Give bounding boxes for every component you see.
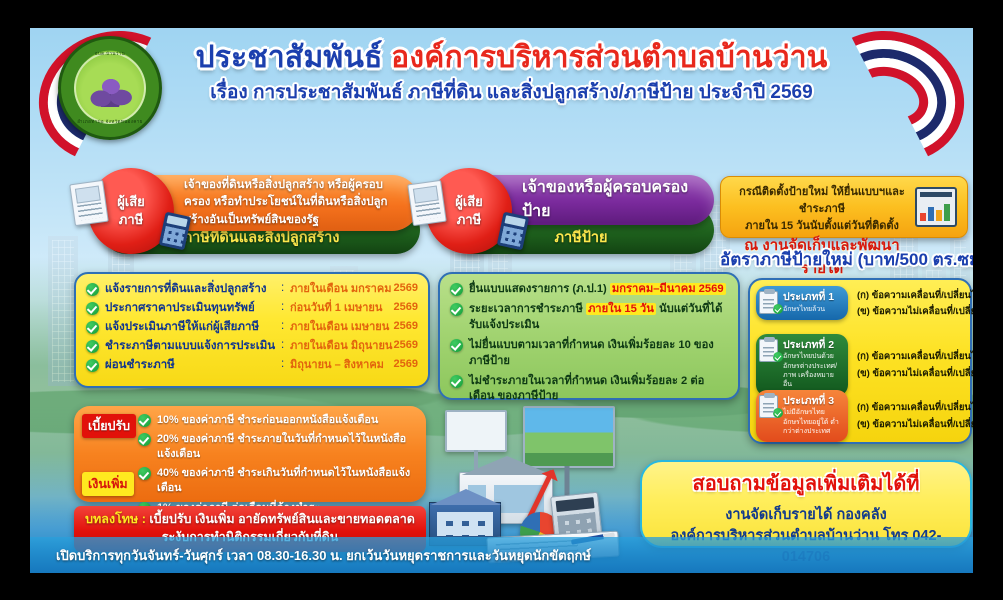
sign-rate-header: อัตราภาษีป้ายใหม่ (บาท/500 ตร.ซม.): [720, 246, 972, 273]
sign-badge-line1: ผู้เสีย: [455, 193, 483, 211]
check-icon: [450, 283, 463, 296]
bar-chart-monitor-icon: [915, 187, 957, 227]
schedule-separator: :: [281, 339, 290, 351]
title-blue-part: ประชาสัมพันธ์: [195, 41, 382, 74]
page-subtitle: เรื่อง การประชาสัมพันธ์ ภาษีที่ดิน และสิ…: [170, 77, 853, 107]
penalty-text: 20% ของค่าภาษี ชำระภายในวันที่กำหนดไว้ใน…: [157, 432, 416, 462]
sign-rate-text: (ก) ข้อความเคลื่อนที่/เปลี่ยนได้: [857, 400, 973, 415]
sign-type-desc: ไม่มีอักษรไทย อักษรไทยอยู่ใต้ ต่ำกว่าต่า…: [783, 408, 842, 436]
check-icon: [138, 467, 151, 480]
land-badge-line1: ผู้เสีย: [117, 193, 145, 211]
schedule-separator: :: [281, 282, 290, 294]
punishment-line-1: บทลงโทษ : เบี้ยปรับ เงินเพิ่ม อายัดทรัพย…: [84, 511, 416, 529]
schedule-value: ภายในเดือน มกราคม: [290, 282, 394, 297]
schedule-row: ชำระภาษีตามแบบแจ้งการประเมิน : ภายในเดือ…: [86, 339, 418, 355]
sign-type-2-pill: ประเภทที่ 2 อักษรไทยปนด้วย อักษรต่างประเ…: [756, 334, 848, 396]
clipboard-check-icon: [759, 395, 778, 418]
sign-rule-text: ยื่นแบบแสดงรายการ (ภ.ป.1) มกราคม–มีนาคม …: [469, 282, 726, 298]
sign-type-name: ประเภทที่ 2: [783, 339, 842, 352]
check-icon: [138, 414, 151, 427]
schedule-row: แจ้งประเมินภาษีให้แก่ผู้เสียภาษี : ภายใน…: [86, 320, 418, 336]
land-tax-schedule-card: แจ้งรายการที่ดินและสิ่งปลูกสร้าง : ภายใน…: [74, 272, 430, 388]
logo-ring-text-top: อบต.บ้านว่าน: [61, 50, 159, 57]
sign-rate-text: (ก) ข้อความเคลื่อนที่/เปลี่ยนได้: [857, 288, 973, 303]
document-icon: [407, 180, 447, 226]
sign-type-name: ประเภทที่ 3: [783, 395, 842, 408]
sign-type-3-pill: ประเภทที่ 3 ไม่มีอักษรไทย อักษรไทยอยู่ใต…: [756, 390, 848, 442]
check-icon: [138, 433, 151, 446]
notice-line-1: กรณีติดตั้งป้ายใหม่ ให้ยื่นแบบฯและชำระภา…: [735, 184, 909, 218]
sign-rate-text: (ข) ข้อความไม่เคลื่อนที่/เปลี่ยนไม่ได้: [857, 366, 973, 381]
check-icon: [86, 340, 99, 353]
schedule-year: 2569: [394, 301, 418, 313]
schedule-year: 2569: [394, 282, 418, 294]
logo-ring-text-bottom: อำเภอท่าบ่อ จังหวัดหนองคาย: [61, 118, 159, 125]
sign-tax-rules-card: ยื่นแบบแสดงรายการ (ภ.ป.1) มกราคม–มีนาคม …: [438, 272, 740, 400]
clipboard-check-icon: [759, 339, 778, 362]
punishment-text-1: เบี้ยปรับ เงินเพิ่ม อายัดทรัพย์สินและขาย…: [149, 512, 415, 526]
surcharge-badge: เงินเพิ่ม: [82, 472, 134, 496]
sign-rate-lines: (ก) ข้อความเคลื่อนที่/เปลี่ยนได้ 52 (ข) …: [857, 399, 973, 434]
schedule-label: ผ่อนชำระภาษี: [105, 358, 281, 374]
sign-tax-label-text: ภาษีป้าย: [554, 226, 607, 249]
sign-type-1-pill: ประเภทที่ 1 อักษรไทยล้วน: [756, 286, 848, 320]
sign-rate-row: ประเภทที่ 3 ไม่มีอักษรไทย อักษรไทยอยู่ใต…: [756, 390, 973, 442]
service-hours-bar: เปิดบริการทุกวันจันทร์-วันศุกร์ เวลา 08.…: [30, 537, 973, 573]
land-taxpayer-badge: ผู้เสีย ภาษี: [88, 168, 174, 254]
sign-rate-row: ประเภทที่ 1 อักษรไทยล้วน (ก) ข้อความเคลื…: [756, 286, 973, 321]
schedule-year: 2569: [394, 358, 418, 370]
check-icon: [773, 408, 783, 418]
sign-rate-row: ประเภทที่ 2 อักษรไทยปนด้วย อักษรต่างประเ…: [756, 334, 973, 396]
penalty-row: 20% ของค่าภาษี ชำระภายในวันที่กำหนดไว้ใน…: [138, 432, 416, 462]
schedule-separator: :: [281, 358, 290, 370]
land-taxpayer-description-text: เจ้าของที่ดินหรือสิ่งปลูกสร้าง หรือผู้คร…: [184, 177, 406, 229]
sign-rule-text: ไม่ยื่นแบบตามเวลาที่กำหนด เงินเพิ่มร้อยล…: [469, 338, 728, 370]
sign-rate-text: (ข) ข้อความไม่เคลื่อนที่/เปลี่ยนไม่ได้: [857, 304, 973, 319]
sign-rule-row: ยื่นแบบแสดงรายการ (ภ.ป.1) มกราคม–มีนาคม …: [450, 282, 728, 298]
schedule-separator: :: [281, 301, 290, 313]
page-title: ประชาสัมพันธ์ องค์การบริหารส่วนตำบลบ้านว…: [170, 42, 853, 74]
sign-rule-text: ไม่ชำระภายในเวลาที่กำหนด เงินเพิ่มร้อยละ…: [469, 374, 728, 406]
penalty-card: เบี้ยปรับ เงินเพิ่ม 10% ของค่าภาษี ชำระก…: [74, 406, 426, 502]
poster-root: อบต.บ้านว่าน อำเภอท่าบ่อ จังหวัดหนองคาย …: [30, 28, 973, 573]
notice-line-2: ภายใน 15 วันนับตั้งแต่วันที่ติดตั้ง: [735, 218, 909, 235]
sign-rate-line: (ข) ข้อความไม่เคลื่อนที่/เปลี่ยนไม่ได้ 5…: [857, 417, 973, 432]
punishment-colon: :: [138, 512, 149, 526]
sign-rate-line: (ก) ข้อความเคลื่อนที่/เปลี่ยนได้ 52: [857, 349, 973, 364]
sign-rule-row: ระยะเวลาการชำระภาษี ภายใน 15 วัน นับแต่ว…: [450, 302, 728, 334]
sign-rule-text: ระยะเวลาการชำระภาษี ภายใน 15 วัน นับแต่ว…: [469, 302, 728, 334]
contact-line-1: งานจัดเก็บรายได้ กองคลัง: [654, 505, 958, 526]
check-icon: [450, 375, 463, 388]
check-icon: [450, 339, 463, 352]
check-icon: [86, 321, 99, 334]
document-icon: [69, 180, 109, 226]
rule-highlight: ภายใน 15 วัน: [586, 303, 656, 315]
sign-taxpayer-badge: ผู้เสีย ภาษี: [426, 168, 512, 254]
contact-card: สอบถามข้อมูลเพิ่มเติมได้ที่ งานจัดเก็บรา…: [640, 460, 972, 548]
fine-badge: เบี้ยปรับ: [82, 414, 136, 438]
logo-crest-icon: [87, 73, 133, 107]
schedule-label: ชำระภาษีตามแบบแจ้งการประเมิน: [105, 339, 281, 355]
sign-rate-line: (ก) ข้อความเคลื่อนที่/เปลี่ยนได้ 52: [857, 400, 973, 415]
title-red-part: องค์การบริหารส่วนตำบลบ้านว่าน: [391, 41, 827, 74]
check-icon: [773, 352, 783, 362]
check-icon: [86, 359, 99, 372]
sign-rate-text: (ก) ข้อความเคลื่อนที่/เปลี่ยนได้: [857, 349, 973, 364]
sign-type-name: ประเภทที่ 1: [783, 291, 842, 304]
sign-rule-row: ไม่ยื่นแบบตามเวลาที่กำหนด เงินเพิ่มร้อยล…: [450, 338, 728, 370]
schedule-value: ก่อนวันที่ 1 เมษายน: [290, 301, 394, 316]
schedule-label: แจ้งรายการที่ดินและสิ่งปลูกสร้าง: [105, 282, 281, 298]
sign-rate-lines: (ก) ข้อความเคลื่อนที่/เปลี่ยนได้ 10 (ข) …: [857, 286, 973, 321]
rule-highlight: มกราคม–มีนาคม 2569: [610, 283, 726, 295]
sign-rate-line: (ข) ข้อความไม่เคลื่อนที่/เปลี่ยนไม่ได้ 2…: [857, 366, 973, 381]
rule-pre: ยื่นแบบแสดงรายการ (ภ.ป.1): [469, 283, 610, 295]
sign-rate-table-card: ประเภทที่ 1 อักษรไทยล้วน (ก) ข้อความเคลื…: [748, 278, 972, 444]
sign-rate-lines: (ก) ข้อความเคลื่อนที่/เปลี่ยนได้ 52 (ข) …: [857, 348, 973, 383]
schedule-year: 2569: [394, 339, 418, 351]
schedule-row: ประกาศราคาประเมินทุนทรัพย์ : ก่อนวันที่ …: [86, 301, 418, 317]
sign-rule-row: ไม่ชำระภายในเวลาที่กำหนด เงินเพิ่มร้อยละ…: [450, 374, 728, 406]
clipboard-check-icon: [759, 291, 778, 314]
contact-heading: สอบถามข้อมูลเพิ่มเติมได้ที่: [654, 472, 958, 497]
schedule-year: 2569: [394, 320, 418, 332]
sign-rate-line: (ก) ข้อความเคลื่อนที่/เปลี่ยนได้ 10: [857, 288, 973, 303]
sign-taxpayer-description-text: เจ้าของหรือผู้ครอบครองป้าย: [522, 176, 700, 224]
schedule-separator: :: [281, 320, 290, 332]
schedule-label: ประกาศราคาประเมินทุนทรัพย์: [105, 301, 281, 317]
schedule-value: มิถุนายน – สิงหาคม: [290, 358, 394, 373]
scenic-billboard-icon: [523, 406, 615, 468]
sign-rate-text: (ข) ข้อความไม่เคลื่อนที่/เปลี่ยนไม่ได้: [857, 417, 973, 432]
organization-emblem-logo: อบต.บ้านว่าน อำเภอท่าบ่อ จังหวัดหนองคาย: [58, 36, 162, 140]
check-icon: [773, 304, 783, 314]
check-icon: [450, 303, 463, 316]
check-icon: [86, 302, 99, 315]
penalty-text: 10% ของค่าภาษี ชำระก่อนออกหนังสือแจ้งเตื…: [157, 413, 378, 428]
header-title-block: ประชาสัมพันธ์ องค์การบริหารส่วนตำบลบ้านว…: [170, 42, 853, 107]
blank-billboard-icon: [445, 410, 507, 452]
penalty-row: 40% ของค่าภาษี ชำระเกินวันที่กำหนดไว้ในห…: [138, 466, 416, 496]
schedule-value: ภายในเดือน มิถุนายน: [290, 339, 394, 354]
schedule-row: แจ้งรายการที่ดินและสิ่งปลูกสร้าง : ภายใน…: [86, 282, 418, 298]
sign-badge-line2: ภาษี: [457, 211, 481, 229]
penalty-row: 10% ของค่าภาษี ชำระก่อนออกหนังสือแจ้งเตื…: [138, 413, 416, 428]
new-sign-notice-box: กรณีติดตั้งป้ายใหม่ ให้ยื่นแบบฯและชำระภา…: [720, 176, 968, 238]
schedule-row: ผ่อนชำระภาษี : มิถุนายน – สิงหาคม 2569: [86, 358, 418, 374]
punishment-keyword: บทลงโทษ: [85, 512, 138, 526]
rule-pre: ระยะเวลาการชำระภาษี: [469, 303, 586, 315]
service-hours-text: เปิดบริการทุกวันจันทร์-วันศุกร์ เวลา 08.…: [56, 545, 591, 566]
sign-type-desc: อักษรไทยล้วน: [783, 305, 842, 314]
land-badge-line2: ภาษี: [119, 211, 143, 229]
schedule-value: ภายในเดือน เมษายน: [290, 320, 394, 335]
schedule-label: แจ้งประเมินภาษีให้แก่ผู้เสียภาษี: [105, 320, 281, 336]
penalty-text: 40% ของค่าภาษี ชำระเกินวันที่กำหนดไว้ในห…: [157, 466, 416, 496]
sign-type-desc: อักษรไทยปนด้วย อักษรต่างประเทศ/ภาพ เครื่…: [783, 352, 842, 390]
check-icon: [86, 283, 99, 296]
sign-rate-line: (ข) ข้อความไม่เคลื่อนที่/เปลี่ยนไม่ได้ 5: [857, 304, 973, 319]
